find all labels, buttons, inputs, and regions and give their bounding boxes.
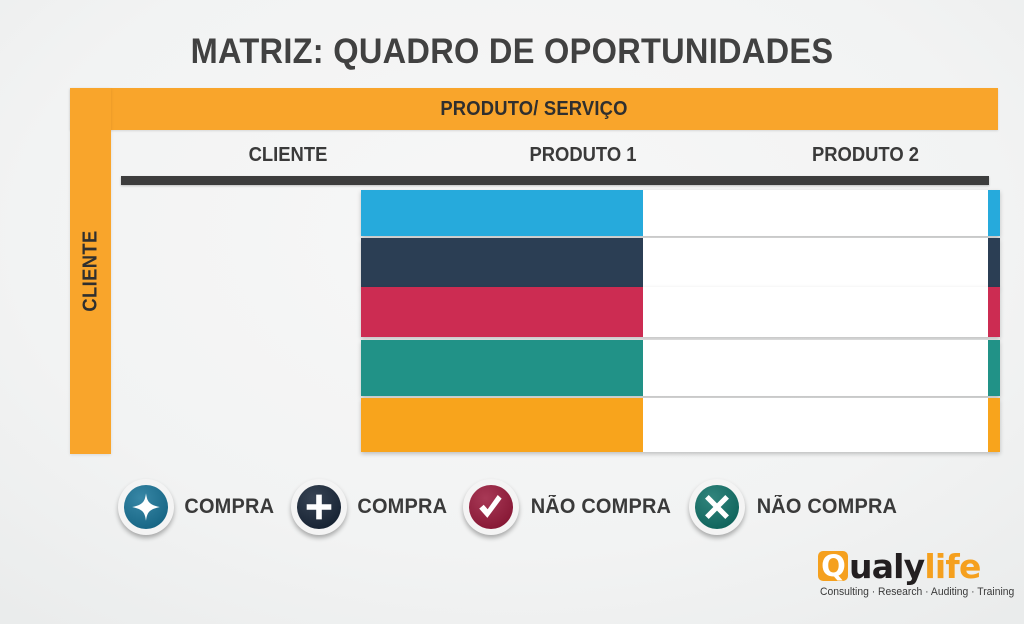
matrix-cell-produto-1[interactable] — [361, 287, 643, 337]
matrix-cell-produto-2[interactable] — [643, 398, 988, 452]
legend-badge[interactable] — [463, 479, 519, 535]
legend-item[interactable]: COMPRA — [291, 479, 450, 535]
check-icon — [469, 485, 513, 529]
logo-name-part1: ualy — [849, 547, 924, 586]
matrix-cell-produto-2[interactable] — [643, 340, 988, 396]
matrix-row-accent-strip — [988, 190, 1000, 236]
matrix-row-accent-strip — [988, 287, 1000, 337]
legend-badge[interactable] — [689, 479, 745, 535]
matrix-cell-produto-2[interactable] — [643, 190, 988, 236]
legend-label: NÃO COMPRA — [531, 495, 671, 519]
matrix-row-accent-strip — [988, 398, 1000, 452]
logo-tagline: Consulting · Research · Auditing · Train… — [820, 586, 1014, 598]
matrix-row[interactable] — [361, 287, 1000, 337]
x-icon — [695, 485, 739, 529]
legend-badge[interactable] — [118, 479, 174, 535]
legend-label: COMPRA — [184, 495, 274, 519]
matrix-cell-produto-1[interactable] — [361, 398, 643, 452]
plus-icon — [297, 485, 341, 529]
legend-label: COMPRA — [357, 495, 447, 519]
sparkle-icon — [124, 485, 168, 529]
matrix-cell-produto-2[interactable] — [643, 287, 988, 337]
qualylife-logo: Qualylife Consulting · Research · Auditi… — [818, 548, 1008, 604]
matrix-row[interactable] — [361, 238, 1000, 288]
matrix-row[interactable] — [361, 340, 1000, 396]
legend-item[interactable]: NÃO COMPRA — [463, 479, 675, 535]
matrix-row-accent-strip — [988, 340, 1000, 396]
matrix-row[interactable] — [361, 398, 1000, 452]
legend: COMPRACOMPRANÃO COMPRANÃO COMPRA — [118, 470, 915, 544]
matrix-cell-produto-1[interactable] — [361, 190, 643, 236]
logo-q-mark: Q — [818, 551, 848, 581]
matrix-cell-produto-1[interactable] — [361, 340, 643, 396]
logo-wordmark: Qualylife — [818, 548, 981, 584]
matrix-cell-produto-2[interactable] — [643, 238, 988, 288]
matrix-row[interactable] — [361, 190, 1000, 236]
legend-item[interactable]: COMPRA — [118, 479, 277, 535]
legend-badge[interactable] — [291, 479, 347, 535]
legend-item[interactable]: NÃO COMPRA — [689, 479, 901, 535]
matrix-row-accent-strip — [988, 238, 1000, 288]
legend-label: NÃO COMPRA — [757, 495, 897, 519]
logo-name-part2: life — [924, 547, 980, 586]
matrix-cell-produto-1[interactable] — [361, 238, 643, 288]
slide-canvas: MATRIZ: QUADRO DE OPORTUNIDADES PRODUTO/… — [0, 0, 1024, 624]
